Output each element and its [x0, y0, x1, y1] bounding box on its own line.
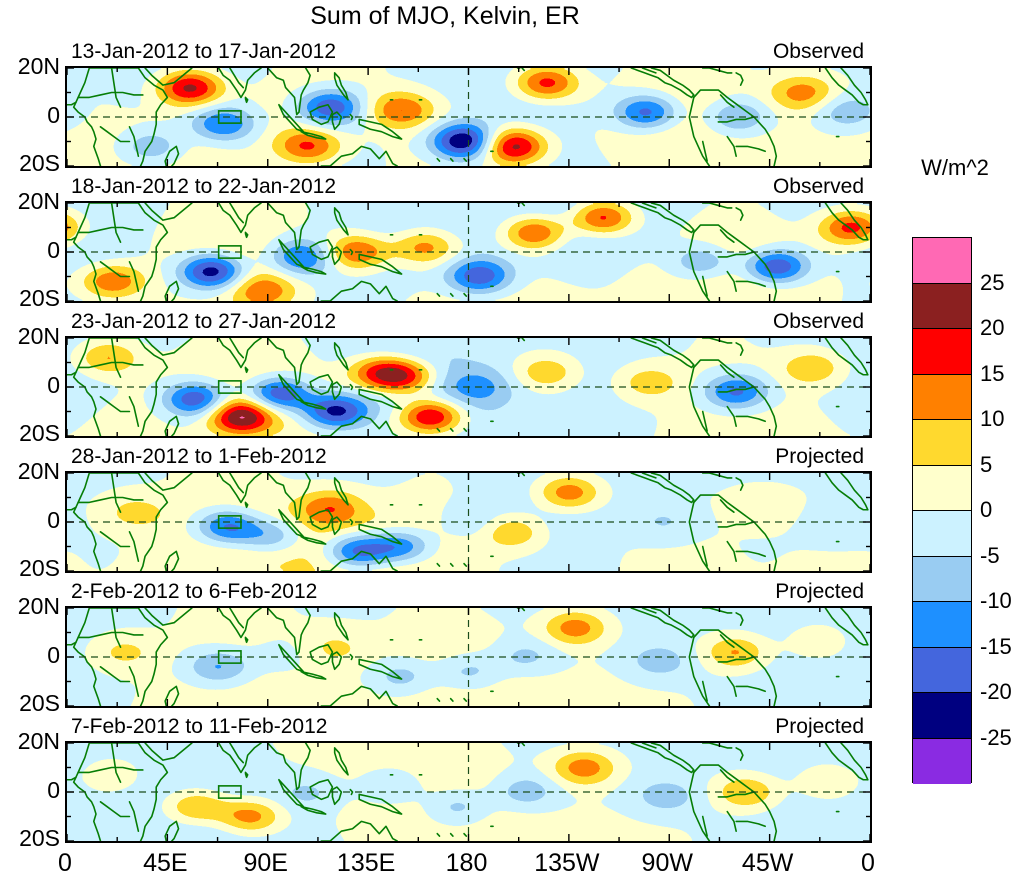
map-panel [65, 606, 872, 708]
map-panel [65, 741, 872, 843]
y-axis-tick-label: 20N [0, 190, 60, 213]
y-axis-tick-label: 0 [0, 239, 60, 262]
colorbar-band [913, 375, 971, 421]
panel-date-range: 13-Jan-2012 to 17-Jan-2012 [71, 41, 336, 62]
x-axis-tick-label: 45W [723, 851, 813, 876]
colorbar [912, 237, 972, 783]
coastline-overlay [67, 608, 870, 706]
x-axis-tick-label: 180 [422, 851, 512, 876]
panel-date-range: 2-Feb-2012 to 6-Feb-2012 [71, 581, 317, 602]
coastline-overlay [67, 203, 870, 301]
figure-root: Sum of MJO, Kelvin, ER 13-Jan-2012 to 17… [0, 0, 1021, 889]
map-panel [65, 66, 872, 168]
y-axis-tick-label: 20S [0, 152, 60, 175]
y-axis-tick-label: 20S [0, 287, 60, 310]
panel-status-label: Projected [608, 581, 864, 602]
map-panel [65, 336, 872, 438]
panel-date-range: 18-Jan-2012 to 22-Jan-2012 [71, 176, 336, 197]
colorbar-band [913, 284, 971, 330]
colorbar-band [913, 466, 971, 512]
panel-status-label: Projected [608, 446, 864, 467]
figure-title: Sum of MJO, Kelvin, ER [0, 2, 890, 31]
x-axis-tick-label: 90W [622, 851, 712, 876]
colorbar-band [913, 739, 971, 785]
x-axis-tick-label: 45E [120, 851, 210, 876]
y-axis-tick-label: 20N [0, 460, 60, 483]
panel-status-label: Observed [608, 176, 864, 197]
panel-status-label: Observed [608, 311, 864, 332]
map-panel [65, 471, 872, 573]
y-axis-tick-label: 0 [0, 104, 60, 127]
map-panel [65, 201, 872, 303]
y-axis-tick-label: 0 [0, 779, 60, 802]
y-axis-tick-label: 0 [0, 509, 60, 532]
y-axis-tick-label: 20S [0, 557, 60, 580]
y-axis-tick-label: 0 [0, 644, 60, 667]
y-axis-tick-label: 20S [0, 827, 60, 850]
colorbar-tick-label: 20 [980, 317, 1004, 339]
colorbar-band [913, 420, 971, 466]
y-axis-tick-label: 20S [0, 422, 60, 445]
colorbar-tick-label: 0 [980, 499, 992, 521]
colorbar-tick-label: -20 [980, 681, 1012, 703]
colorbar-tick-label: 10 [980, 408, 1004, 430]
colorbar-band [913, 557, 971, 603]
panel-status-label: Observed [608, 41, 864, 62]
x-axis-tick-label: 135E [321, 851, 411, 876]
colorbar-tick-label: 5 [980, 454, 992, 476]
x-axis-tick-label: 90E [221, 851, 311, 876]
colorbar-tick-label: -5 [980, 545, 1000, 567]
colorbar-band [913, 602, 971, 648]
coastline-overlay [67, 338, 870, 436]
y-axis-tick-label: 20N [0, 730, 60, 753]
y-axis-tick-label: 20S [0, 692, 60, 715]
x-axis-tick-label: 0 [20, 851, 110, 876]
panel-status-label: Projected [608, 716, 864, 737]
coastline-overlay [67, 68, 870, 166]
colorbar-band [913, 511, 971, 557]
colorbar-tick-label: -15 [980, 636, 1012, 658]
panel-date-range: 7-Feb-2012 to 11-Feb-2012 [71, 716, 327, 737]
coastline-overlay [67, 743, 870, 841]
colorbar-band [913, 693, 971, 739]
colorbar-band [913, 648, 971, 694]
colorbar-band [913, 238, 971, 284]
colorbar-units-label: W/m^2 [900, 155, 1010, 181]
y-axis-tick-label: 0 [0, 374, 60, 397]
panel-date-range: 28-Jan-2012 to 1-Feb-2012 [71, 446, 327, 467]
y-axis-tick-label: 20N [0, 595, 60, 618]
x-axis-tick-label: 0 [823, 851, 913, 876]
panel-date-range: 23-Jan-2012 to 27-Jan-2012 [71, 311, 336, 332]
x-axis-tick-label: 135W [522, 851, 612, 876]
colorbar-tick-label: 15 [980, 363, 1004, 385]
colorbar-tick-label: 25 [980, 272, 1004, 294]
colorbar-tick-label: -25 [980, 727, 1012, 749]
y-axis-tick-label: 20N [0, 325, 60, 348]
y-axis-tick-label: 20N [0, 55, 60, 78]
colorbar-tick-label: -10 [980, 590, 1012, 612]
coastline-overlay [67, 473, 870, 571]
colorbar-band [913, 329, 971, 375]
